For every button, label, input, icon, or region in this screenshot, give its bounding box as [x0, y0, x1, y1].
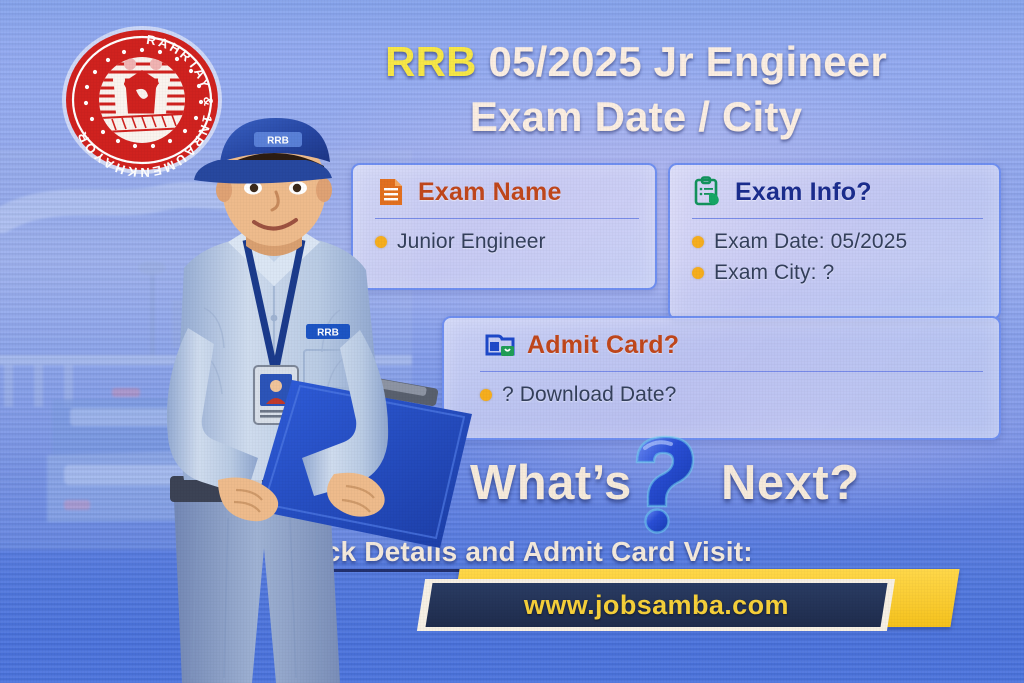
card-admit-card-header: Admit Card? — [444, 318, 999, 361]
bullet-dot-icon — [692, 236, 704, 248]
bullet-dot-icon — [692, 267, 704, 279]
card-exam-info: Exam Info? Exam Date: 05/2025 Exam City:… — [668, 163, 1001, 320]
clipboard-icon — [692, 176, 724, 208]
title-rest: 05/2025 Jr Engineer — [489, 38, 887, 85]
id-card-icon — [484, 329, 516, 361]
title-line-1: RRB 05/2025 Jr Engineer — [336, 34, 936, 89]
card-admit-card: Admit Card? ? Download Date? — [442, 316, 1001, 440]
website-banner[interactable]: www.jobsamba.com — [405, 565, 960, 640]
list-item: Exam City: ? — [692, 261, 999, 285]
card-admit-card-title: Admit Card? — [527, 331, 679, 360]
card-divider — [692, 218, 983, 219]
engineer-figure: RRB — [78, 118, 478, 683]
whats-next-right: Next? — [721, 455, 860, 511]
whats-next-block: What’s Next? — [422, 455, 982, 525]
bullet-dot-icon — [480, 389, 492, 401]
poster-canvas: RAHRTAY & 1NRAUMENKHAYOR RRB 05/2025 Jr … — [0, 0, 1024, 683]
shirt-badge-label: RRB — [317, 328, 339, 339]
whats-next-left: What’s — [470, 455, 632, 511]
list-item: ? Download Date? — [480, 383, 999, 407]
list-item-label: Exam City: ? — [714, 261, 834, 285]
card-admit-card-list: ? Download Date? — [444, 372, 999, 407]
title-highlight: RRB — [385, 38, 477, 85]
banner-navy-shape: www.jobsamba.com — [426, 583, 888, 627]
list-item: Exam Date: 05/2025 — [692, 230, 999, 254]
cap-badge-label: RRB — [267, 136, 289, 147]
list-item-label: ? Download Date? — [502, 383, 676, 407]
card-exam-info-title: Exam Info? — [735, 178, 872, 207]
website-url[interactable]: www.jobsamba.com — [524, 590, 789, 621]
card-exam-info-list: Exam Date: 05/2025 Exam City: ? — [670, 219, 999, 285]
list-item-label: Exam Date: 05/2025 — [714, 230, 907, 254]
card-exam-info-header: Exam Info? — [670, 165, 999, 208]
card-divider — [480, 371, 983, 372]
